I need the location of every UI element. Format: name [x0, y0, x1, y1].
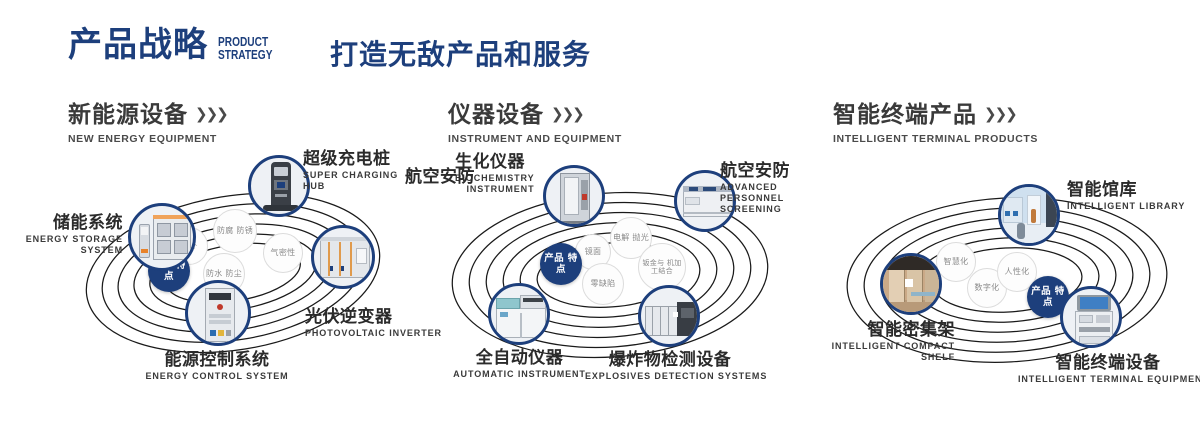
- section-heading-new-energy: 新能源设备❯❯❯ NEW ENERGY EQUIPMENT: [68, 95, 227, 145]
- section-title-cn: 仪器设备: [448, 95, 544, 129]
- intelligent-library-illustration: [1001, 187, 1057, 243]
- label-super-charging-hub: 超级充电桩 SUPER CHARGING HUB: [303, 149, 415, 192]
- section-title-en: INTELLIGENT TERMINAL PRODUCTS: [833, 133, 1038, 145]
- node-intelligent-library[interactable]: [998, 184, 1060, 246]
- label-energy-storage-system: 储能系统 ENERGY STORAGE SYSTEM: [5, 213, 123, 256]
- terminal-kiosk-illustration: [1063, 289, 1119, 345]
- label-en: ENERGY STORAGE SYSTEM: [5, 234, 123, 256]
- title-en: PRODUCT STRATEGY: [218, 36, 272, 61]
- label-en: ENERGY CONTROL SYSTEM: [92, 371, 342, 382]
- feature-bubble: 钣金与 机加工结合: [638, 243, 686, 291]
- label-en: INTELLIGENT COMPACT SHELF: [790, 341, 955, 363]
- label-cn: 能源控制系统: [92, 350, 342, 370]
- node-explosives-detection-systems[interactable]: [638, 285, 700, 347]
- label-cn: 智能密集架: [790, 320, 955, 340]
- node-photovoltaic-inverter[interactable]: [311, 225, 375, 289]
- label-cn: 智能馆库: [1067, 180, 1185, 200]
- section-title-cn: 新能源设备: [68, 95, 188, 129]
- section-title-en: NEW ENERGY EQUIPMENT: [68, 133, 227, 145]
- label-en: AUTOMATIC INSTRUMENT: [437, 369, 602, 380]
- label-cn: 智能终端设备: [1018, 353, 1198, 373]
- label-cn: 超级充电桩: [303, 149, 415, 169]
- label-intelligent-terminal-equipment: 智能终端设备 INTELLIGENT TERMINAL EQUIPMENT: [1018, 353, 1198, 385]
- label-aviation-security-aside: 航空安防: [405, 167, 475, 187]
- section-title-en: INSTRUMENT AND EQUIPMENT: [448, 133, 622, 145]
- node-intelligent-compact-shelf[interactable]: [880, 253, 942, 315]
- label-cn: 航空安防: [405, 167, 475, 187]
- poster-canvas: 产品战略 PRODUCT STRATEGY 打造无敌产品和服务 新能源设备❯❯❯…: [0, 0, 1200, 422]
- cluster-intelligent-terminal-products: 智慧化 数字化 人性化 产品 特点 智能馆库 INTELLIGENT LIBRA…: [815, 158, 1200, 393]
- cluster-new-energy-equipment: 户外 防腐 防锈 气密性 防水 防尘 产品 特点 储能系统 ENERGY STO…: [55, 155, 415, 385]
- node-energy-control-system[interactable]: [185, 280, 251, 346]
- section-heading-intelligent-terminal: 智能终端产品❯❯❯ INTELLIGENT TERMINAL PRODUCTS: [833, 95, 1038, 145]
- compact-shelf-illustration: [883, 256, 939, 312]
- chevrons-right-icon: ❯❯❯: [984, 105, 1016, 123]
- label-cn: 全自动仪器: [437, 348, 602, 368]
- label-en: EXPLOSIVES DETECTION SYSTEMS: [585, 371, 755, 382]
- energy-storage-illustration: [131, 206, 193, 268]
- label-explosives-detection-systems: 爆炸物检测设备 EXPLOSIVES DETECTION SYSTEMS: [585, 350, 755, 382]
- energy-control-illustration: [188, 283, 248, 343]
- feature-bubble: 防腐 防锈: [213, 209, 257, 253]
- photovoltaic-inverter-illustration: [314, 228, 372, 286]
- automatic-instrument-illustration: [491, 286, 547, 342]
- title-cn: 产品战略: [68, 26, 208, 64]
- label-en: ADVANCED PERSONNEL SCREENING: [720, 182, 800, 215]
- node-automatic-instrument[interactable]: [488, 283, 550, 345]
- label-cn: 航空安防: [720, 161, 800, 181]
- charging-hub-illustration: [251, 158, 307, 214]
- feature-bubble: 零缺陷: [582, 263, 624, 305]
- chevrons-right-icon: ❯❯❯: [551, 105, 583, 123]
- label-intelligent-compact-shelf: 智能密集架 INTELLIGENT COMPACT SHELF: [790, 320, 955, 363]
- label-cn: 储能系统: [5, 213, 123, 233]
- label-automatic-instrument: 全自动仪器 AUTOMATIC INSTRUMENT: [437, 348, 602, 380]
- section-heading-instrument: 仪器设备❯❯❯ INSTRUMENT AND EQUIPMENT: [448, 95, 622, 145]
- label-cn: 爆炸物检测设备: [585, 350, 755, 370]
- label-intelligent-library: 智能馆库 INTELLIGENT LIBRARY: [1067, 180, 1185, 212]
- cluster-instrument-and-equipment: 镜面 电解 抛光 零缺陷 钣金与 机加工结合 产品 特点 生化仪器 BIOCHE…: [420, 155, 800, 390]
- node-intelligent-terminal-equipment[interactable]: [1060, 286, 1122, 348]
- feature-bubble: 气密性: [263, 233, 303, 273]
- label-en: INTELLIGENT TERMINAL EQUIPMENT: [1018, 374, 1198, 385]
- node-energy-storage-system[interactable]: [128, 203, 196, 271]
- label-en: SUPER CHARGING HUB: [303, 170, 415, 192]
- biochemistry-instrument-illustration: [546, 168, 602, 224]
- label-en: INTELLIGENT LIBRARY: [1067, 201, 1185, 212]
- node-super-charging-hub[interactable]: [248, 155, 310, 217]
- label-energy-control-system: 能源控制系统 ENERGY CONTROL SYSTEM: [92, 350, 342, 382]
- product-features-badge: 产品 特点: [540, 243, 582, 285]
- label-advanced-personnel-screening: 航空安防 ADVANCED PERSONNEL SCREENING: [720, 161, 800, 215]
- poster-title: 产品战略 PRODUCT STRATEGY: [68, 26, 288, 64]
- node-biochemistry-instrument[interactable]: [543, 165, 605, 227]
- poster-subtitle: 打造无敌产品和服务: [330, 33, 591, 73]
- explosives-detection-illustration: [641, 288, 697, 344]
- section-title-cn: 智能终端产品: [833, 95, 977, 129]
- chevrons-right-icon: ❯❯❯: [195, 105, 227, 123]
